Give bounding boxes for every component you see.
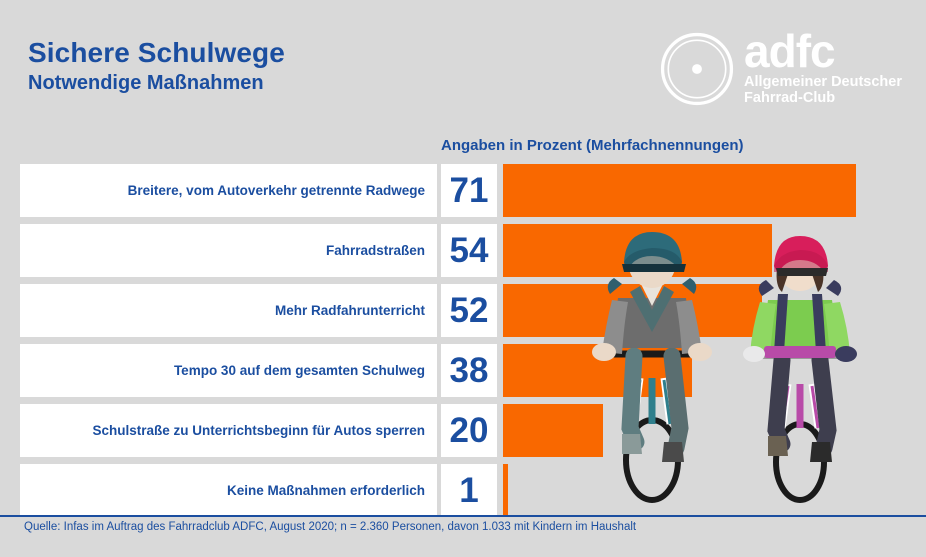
bar-label-cell: Breitere, vom Autoverkehr getrennte Radw… xyxy=(20,164,437,217)
logo-tagline: Allgemeiner Deutscher Fahrrad-Club xyxy=(744,74,902,106)
bicycle-wheel-icon xyxy=(656,28,738,110)
bar-value-cell: 38 xyxy=(441,344,497,397)
chart-row: Breitere, vom Autoverkehr getrennte Radw… xyxy=(20,164,906,217)
chart-row: Keine Maßnahmen erforderlich1 xyxy=(20,464,906,517)
bar-label-text: Keine Maßnahmen erforderlich xyxy=(227,483,425,498)
chart-row: Fahrradstraßen54 xyxy=(20,224,906,277)
logo-tagline-line2: Fahrrad-Club xyxy=(744,90,902,106)
bar-value-cell: 1 xyxy=(441,464,497,517)
bar-chart-rows: Breitere, vom Autoverkehr getrennte Radw… xyxy=(20,164,906,524)
bar-track xyxy=(503,224,906,277)
bar-value-text: 71 xyxy=(450,173,489,208)
page-title: Sichere Schulwege Notwendige Maßnahmen xyxy=(28,38,285,94)
chart-row: Tempo 30 auf dem gesamten Schulweg38 xyxy=(20,344,906,397)
bar-fill xyxy=(503,464,508,517)
bar-label-cell: Schulstraße zu Unterrichtsbeginn für Aut… xyxy=(20,404,437,457)
bar-fill xyxy=(503,404,603,457)
source-note: Quelle: Infas im Auftrag des Fahrradclub… xyxy=(24,521,636,533)
title-main: Sichere Schulwege xyxy=(28,38,285,67)
infographic-canvas: Sichere Schulwege Notwendige Maßnahmen a… xyxy=(0,0,926,557)
chart-row: Mehr Radfahrunterricht52 xyxy=(20,284,906,337)
bar-fill xyxy=(503,344,692,397)
bar-label-text: Schulstraße zu Unterrichtsbeginn für Aut… xyxy=(92,423,425,438)
bar-track xyxy=(503,284,906,337)
bar-value-cell: 20 xyxy=(441,404,497,457)
bar-value-text: 52 xyxy=(450,293,489,328)
bar-label-text: Mehr Radfahrunterricht xyxy=(275,303,425,318)
bar-track xyxy=(503,464,906,517)
bar-value-text: 38 xyxy=(450,353,489,388)
logo-wordmark: adfc xyxy=(744,32,902,71)
title-subtitle: Notwendige Maßnahmen xyxy=(28,73,285,94)
bar-label-cell: Mehr Radfahrunterricht xyxy=(20,284,437,337)
bar-label-cell: Keine Maßnahmen erforderlich xyxy=(20,464,437,517)
bar-fill xyxy=(503,284,762,337)
bar-value-cell: 52 xyxy=(441,284,497,337)
footer-divider xyxy=(0,515,926,517)
logo-text-block: adfc Allgemeiner Deutscher Fahrrad-Club xyxy=(744,26,902,107)
bar-value-cell: 54 xyxy=(441,224,497,277)
bar-value-text: 20 xyxy=(450,413,489,448)
logo-tagline-line1: Allgemeiner Deutscher xyxy=(744,74,902,90)
bar-label-text: Tempo 30 auf dem gesamten Schulweg xyxy=(174,363,425,378)
bar-fill xyxy=(503,224,772,277)
bar-label-text: Breitere, vom Autoverkehr getrennte Radw… xyxy=(128,183,425,198)
bar-value-cell: 71 xyxy=(441,164,497,217)
bar-track xyxy=(503,164,906,217)
bar-label-cell: Tempo 30 auf dem gesamten Schulweg xyxy=(20,344,437,397)
bar-label-cell: Fahrradstraßen xyxy=(20,224,437,277)
bar-value-text: 54 xyxy=(450,233,489,268)
chart-row: Schulstraße zu Unterrichtsbeginn für Aut… xyxy=(20,404,906,457)
bar-value-text: 1 xyxy=(459,473,478,508)
bar-track xyxy=(503,344,906,397)
adfc-logo: adfc Allgemeiner Deutscher Fahrrad-Club xyxy=(656,26,902,110)
bar-label-text: Fahrradstraßen xyxy=(326,243,425,258)
bar-fill xyxy=(503,164,856,217)
chart-unit-note: Angaben in Prozent (Mehrfachnennungen) xyxy=(441,137,744,154)
bar-track xyxy=(503,404,906,457)
